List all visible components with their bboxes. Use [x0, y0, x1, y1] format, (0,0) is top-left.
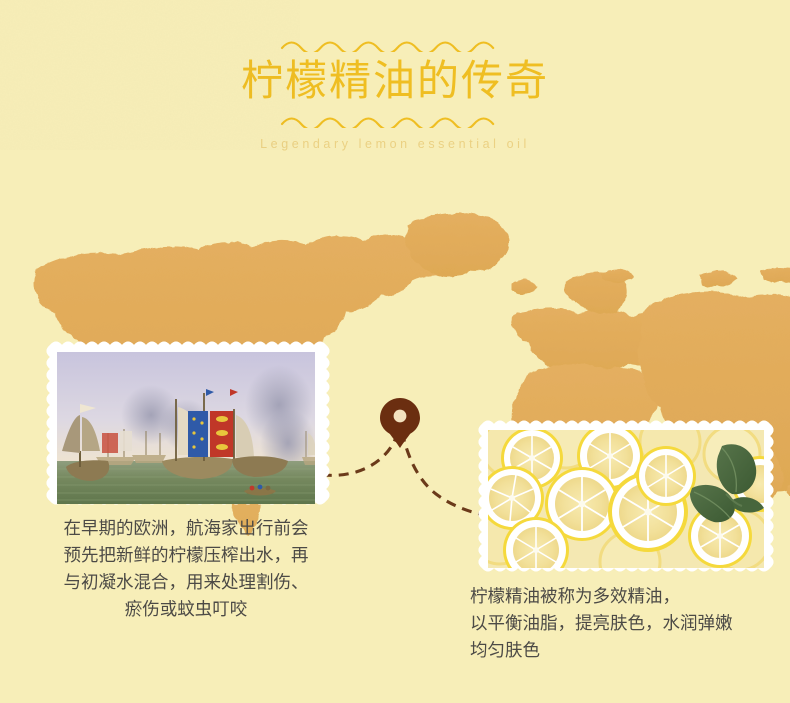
historic-sailing-ships-photo [36, 333, 336, 523]
wave-divider-top-icon [280, 36, 510, 52]
location-pin [380, 398, 420, 448]
wave-divider-bottom-icon [280, 112, 510, 128]
page-title: 柠檬精油的传奇 [0, 54, 790, 108]
ships-caption: 在早期的欧洲，航海家出行前会 预先把新鲜的柠檬压榨出水，再 与初凝水混合，用来处… [18, 516, 354, 624]
lemon-slices-photo [470, 414, 782, 584]
page-header: 柠檬精油的传奇 Legendary lemon essential oil [0, 0, 790, 151]
page-subtitle: Legendary lemon essential oil [0, 137, 790, 151]
page-root: 柠檬精油的传奇 Legendary lemon essential oil 在早… [0, 0, 790, 703]
lemons-caption: 柠檬精油被称为多效精油， 以平衡油脂，提亮肤色，水润弹嫩 均匀肤色 [470, 584, 782, 665]
